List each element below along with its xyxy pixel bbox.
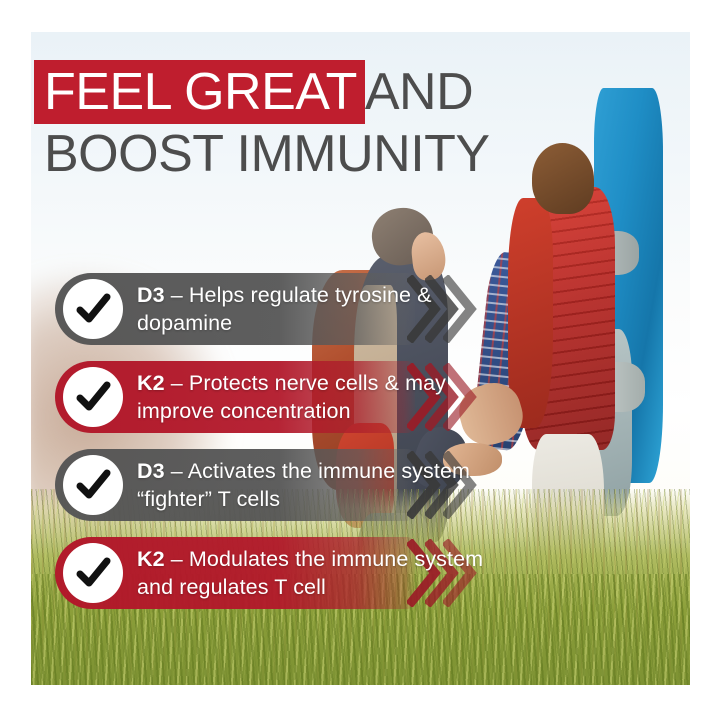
- headline-line-1-rest: AND: [365, 63, 473, 121]
- headline-line-1: FEEL GREATAND: [44, 60, 684, 124]
- check-icon: [63, 367, 123, 427]
- benefit-row: D3 – Activates the immune system “fighte…: [55, 449, 675, 521]
- benefit-description: Modulates the immune system and regulate…: [137, 547, 483, 599]
- check-icon: [63, 543, 123, 603]
- headline-highlight: FEEL GREAT: [34, 60, 365, 124]
- marketing-infographic: FEEL GREATAND BOOST IMMUNITY: [0, 0, 720, 720]
- benefit-text: K2 – Modulates the immune system and reg…: [137, 545, 487, 601]
- benefit-nutrient: K2: [137, 547, 165, 571]
- headline-line-2: BOOST IMMUNITY: [44, 124, 684, 184]
- benefit-separator: –: [171, 459, 183, 483]
- benefit-separator: –: [171, 547, 183, 571]
- benefit-nutrient: D3: [137, 283, 165, 307]
- benefit-text: K2 – Protects nerve cells & may improve …: [137, 369, 487, 425]
- benefits-list: D3 – Helps regulate tyrosine & dopamine: [55, 273, 675, 625]
- benefit-text: D3 – Helps regulate tyrosine & dopamine: [137, 281, 487, 337]
- check-icon: [63, 279, 123, 339]
- benefit-description: Protects nerve cells & may improve conce…: [137, 371, 446, 423]
- check-icon: [63, 455, 123, 515]
- benefit-separator: –: [171, 283, 183, 307]
- headline: FEEL GREATAND BOOST IMMUNITY: [44, 60, 684, 184]
- benefit-row: D3 – Helps regulate tyrosine & dopamine: [55, 273, 675, 345]
- benefit-nutrient: K2: [137, 371, 165, 395]
- benefit-description: Activates the immune system “fighter” T …: [137, 459, 470, 511]
- benefit-nutrient: D3: [137, 459, 165, 483]
- benefit-separator: –: [171, 371, 183, 395]
- benefit-row: K2 – Modulates the immune system and reg…: [55, 537, 675, 609]
- benefit-row: K2 – Protects nerve cells & may improve …: [55, 361, 675, 433]
- benefit-text: D3 – Activates the immune system “fighte…: [137, 457, 487, 513]
